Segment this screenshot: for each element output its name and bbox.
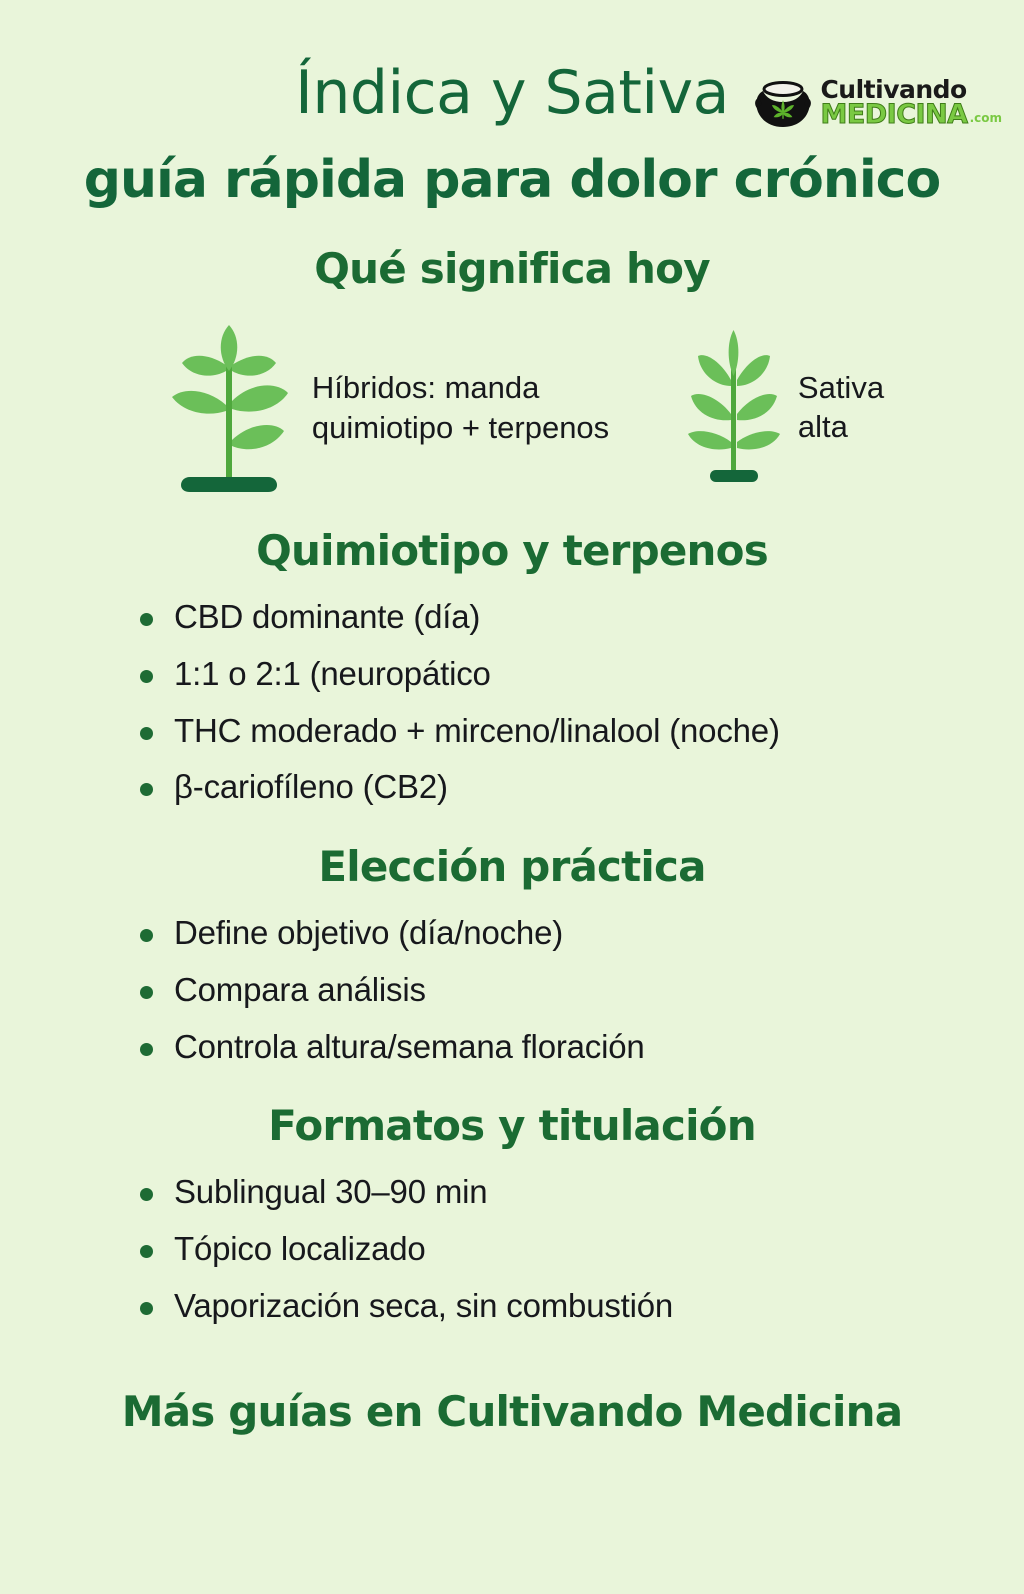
list-item: CBD dominante (día) [140, 589, 984, 646]
cannabis-plant-bushy-icon [164, 315, 294, 500]
section-heading-formatos: Formatos y titulación [0, 1101, 1024, 1150]
list-item: 1:1 o 2:1 (neuropático [140, 646, 984, 703]
list-item: Sublingual 30–90 min [140, 1164, 984, 1221]
hero-heading: Qué significa hoy [0, 244, 1024, 293]
cannabis-plant-tall-icon [682, 328, 786, 488]
hero-left-text: Híbridos: manda quimiotipo + terpenos [312, 368, 642, 447]
cauldron-cannabis-icon [754, 76, 812, 130]
infographic-page: Cultivando MEDICINA .com Índica y Sativa… [0, 58, 1024, 1594]
section-heading-quimiotipo: Quimiotipo y terpenos [0, 526, 1024, 575]
bullet-list-eleccion: Define objetivo (día/noche) Compara anál… [0, 905, 1024, 1075]
list-item: THC moderado + mirceno/linalool (noche) [140, 703, 984, 760]
hero-band: Híbridos: manda quimiotipo + terpenos Sa… [0, 315, 1024, 500]
list-item: Define objetivo (día/noche) [140, 905, 984, 962]
bullet-list-quimiotipo: CBD dominante (día) 1:1 o 2:1 (neuropáti… [0, 589, 1024, 816]
section-formatos: Formatos y titulación Sublingual 30–90 m… [0, 1101, 1024, 1334]
section-heading-eleccion: Elección práctica [0, 842, 1024, 891]
logo-wordmark: Cultivando MEDICINA .com [820, 78, 1002, 127]
hero-right-label: Sativa alta [798, 369, 884, 447]
hero-right-group: Sativa alta [682, 328, 884, 488]
list-item: β-cariofíleno (CB2) [140, 759, 984, 816]
section-eleccion: Elección práctica Define objetivo (día/n… [0, 842, 1024, 1075]
logo-tld: .com [970, 113, 1002, 127]
list-item: Vaporización seca, sin combustión [140, 1278, 984, 1335]
list-item: Tópico localizado [140, 1221, 984, 1278]
page-subtitle: guía rápida para dolor crónico [0, 150, 1024, 210]
list-item: Controla altura/semana floración [140, 1019, 984, 1076]
logo-line-medicina: MEDICINA [820, 102, 967, 128]
footer-cta: Más guías en Cultivando Medicina [0, 1387, 1024, 1436]
section-quimiotipo: Quimiotipo y terpenos CBD dominante (día… [0, 526, 1024, 816]
brand-logo[interactable]: Cultivando MEDICINA .com [754, 76, 1002, 130]
list-item: Compara análisis [140, 962, 984, 1019]
hero-left-group: Híbridos: manda quimiotipo + terpenos [164, 315, 642, 500]
bullet-list-formatos: Sublingual 30–90 min Tópico localizado V… [0, 1164, 1024, 1334]
